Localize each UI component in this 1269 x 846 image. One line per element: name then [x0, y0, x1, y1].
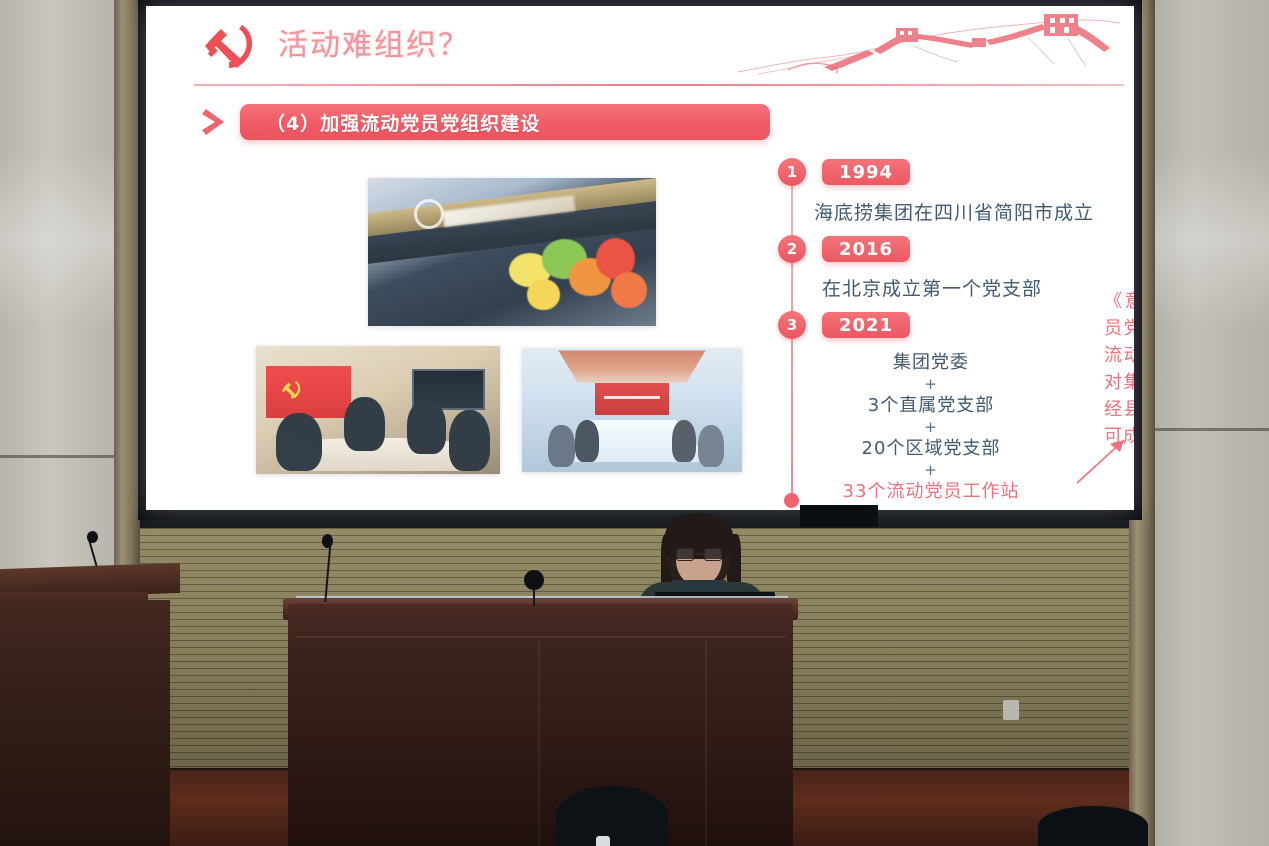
chevron-right-icon — [198, 105, 232, 139]
timeline-node-3: 3 — [778, 311, 806, 339]
timeline-end-dot — [784, 493, 799, 508]
meeting-led-screen — [595, 383, 670, 415]
meeting-attendee — [672, 420, 696, 462]
section-banner-label: （4）加强流动党员党组织建设 — [266, 109, 540, 136]
dining-person — [449, 410, 490, 471]
great-wall-line-art — [728, 12, 1128, 84]
party-flag — [266, 366, 351, 417]
dining-person — [344, 397, 385, 451]
timeline-year-label: 1994 — [839, 162, 893, 183]
podium-panel-seam — [538, 640, 540, 846]
timeline-marker-number: 3 — [778, 311, 806, 339]
meeting-attendee — [698, 425, 724, 467]
wall-outlet — [1003, 700, 1019, 720]
audience-item — [596, 836, 610, 846]
conference-room-meeting-photo — [522, 348, 742, 472]
ceiling-light-panel — [535, 350, 729, 382]
org-line: 集团党委 — [806, 350, 1056, 375]
lecture-hall-scene: 活动难组织？ — [0, 0, 1269, 846]
header-divider — [194, 84, 1124, 86]
section-banner: （4）加强流动党员党组织建设 — [240, 104, 770, 140]
org-line: 20个区域党支部 — [806, 436, 1056, 461]
meeting-attendee — [575, 420, 599, 462]
org-plus: + — [806, 461, 1056, 479]
speaker-glasses — [676, 548, 722, 561]
led-screen-text — [604, 396, 661, 399]
haidilao-storefront-photo — [368, 178, 656, 326]
org-plus: + — [806, 375, 1056, 393]
timeline-marker-number: 1 — [778, 158, 806, 186]
projection-screen-bezel: 活动难组织？ — [138, 0, 1142, 520]
timeline-desc-2: 在北京成立第一个党支部 — [822, 274, 1042, 301]
timeline-node-1: 1 — [778, 158, 806, 186]
party-branch-dining-meeting-photo — [256, 346, 500, 474]
section-banner-row: （4）加强流动党员党组织建设 — [198, 104, 770, 140]
glasses-right-lens — [704, 548, 722, 561]
org-line-highlight: 33个流动党员工作站 — [806, 479, 1056, 504]
glasses-bridge — [694, 553, 704, 555]
meeting-attendee — [548, 425, 574, 467]
slide-header: 活动难组织？ — [146, 6, 1134, 88]
timeline-year-pill-3: 2021 — [822, 312, 910, 338]
timeline-marker-number: 2 — [778, 235, 806, 263]
org-plus: + — [806, 418, 1056, 436]
org-line: 3个直属党支部 — [806, 393, 1056, 418]
timeline-year-label: 2021 — [839, 315, 893, 336]
timeline-year-pill-2: 2016 — [822, 236, 910, 262]
policy-annotation-text: 《意见》：规范流动党员党组织建设，明确在流动党员人数较多、相对集中的地方和单位，… — [1104, 288, 1134, 450]
podium-groove — [296, 636, 786, 638]
timeline-node-2: 2 — [778, 235, 806, 263]
podium-panel-seam — [705, 640, 707, 846]
av-console-box — [800, 505, 878, 527]
secondary-lectern — [0, 600, 170, 846]
glasses-left-lens — [676, 548, 694, 561]
flag-hammer-sickle-icon — [281, 380, 303, 400]
balloon-decorations — [501, 234, 651, 320]
dining-person — [276, 413, 322, 472]
audience-head — [1038, 806, 1148, 846]
audience-head — [556, 786, 668, 846]
presentation-slide: 活动难组织？ — [146, 6, 1134, 510]
timeline-year-pill-1: 1994 — [822, 159, 910, 185]
dining-person — [407, 400, 446, 454]
timeline-desc-1: 海底捞集团在四川省简阳市成立 — [814, 198, 1094, 225]
slide-title: 活动难组织？ — [278, 20, 470, 64]
main-lectern — [288, 604, 793, 846]
timeline-year-label: 2016 — [839, 239, 893, 260]
org-structure-stack: 集团党委 + 3个直属党支部 + 20个区域党支部 + 33个流动党员工作站 — [806, 350, 1056, 504]
cpc-hammer-sickle-emblem — [202, 22, 262, 72]
